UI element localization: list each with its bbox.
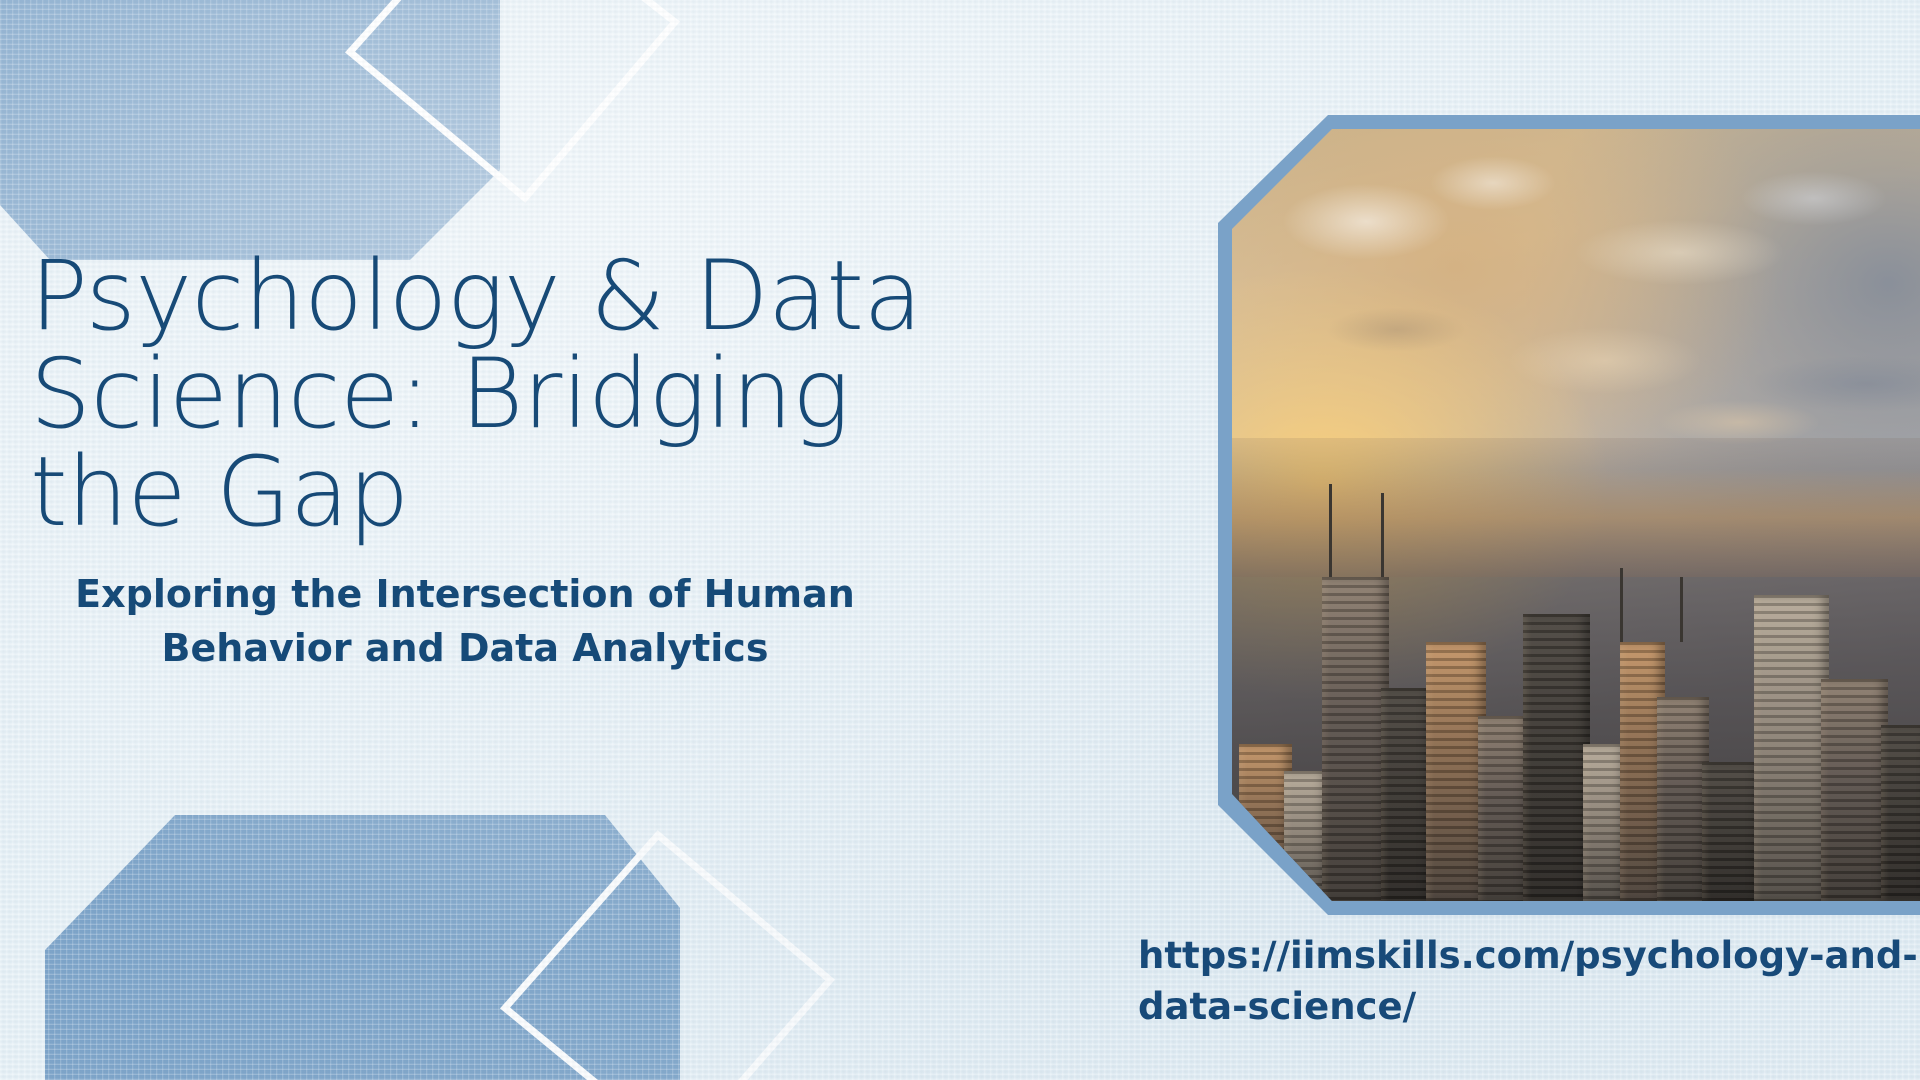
photo-building [1426,642,1486,901]
blue-hexagon-top-left [0,0,500,260]
slide-canvas: Psychology & Data Science: Bridging the … [0,0,1920,1080]
decoration-top-left [0,0,700,260]
photo-building [1702,762,1762,901]
top-left-shape-svg [0,0,700,260]
title-block: Psychology & Data Science: Bridging the … [30,248,930,676]
page-subtitle: Exploring the Intersection of Human Beha… [30,568,930,676]
photo-city-layer [1232,438,1920,901]
photo-antenna [1381,493,1384,586]
hero-photo [1232,129,1920,901]
photo-building [1523,614,1590,901]
photo-antenna [1620,568,1623,642]
hero-photo-frame [1218,115,1920,915]
photo-building [1322,577,1389,901]
photo-building [1754,595,1829,901]
photo-antenna [1329,484,1332,586]
photo-building [1821,679,1888,901]
page-title: Psychology & Data Science: Bridging the … [30,248,930,542]
blue-hexagon-bottom-left [45,815,680,1080]
photo-antenna [1680,577,1683,642]
bottom-left-shape-svg [0,780,740,1080]
photo-building [1881,725,1920,901]
decoration-bottom-left [0,780,740,1080]
source-url[interactable]: https://iimskills.com/psychology-and-dat… [1138,930,1920,1032]
